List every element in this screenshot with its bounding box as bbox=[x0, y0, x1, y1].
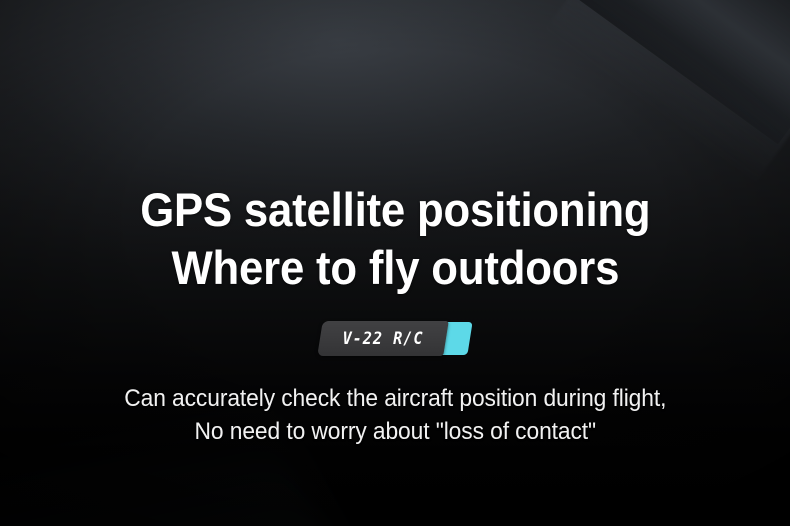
headline: GPS satellite positioning Where to fly o… bbox=[140, 0, 650, 297]
model-badge: V-22 R/C bbox=[320, 321, 470, 356]
subtitle-line-2: No need to worry about "loss of contact" bbox=[124, 415, 666, 448]
subtitle-line-1: Can accurately check the aircraft positi… bbox=[124, 382, 666, 415]
headline-line-2: Where to fly outdoors bbox=[140, 239, 650, 297]
product-feature-banner: GPS satellite positioning Where to fly o… bbox=[0, 0, 790, 526]
badge-label: V-22 R/C bbox=[326, 321, 439, 356]
headline-line-1: GPS satellite positioning bbox=[140, 181, 650, 239]
subtitle: Can accurately check the aircraft positi… bbox=[124, 356, 666, 448]
banner-content: GPS satellite positioning Where to fly o… bbox=[0, 0, 790, 526]
